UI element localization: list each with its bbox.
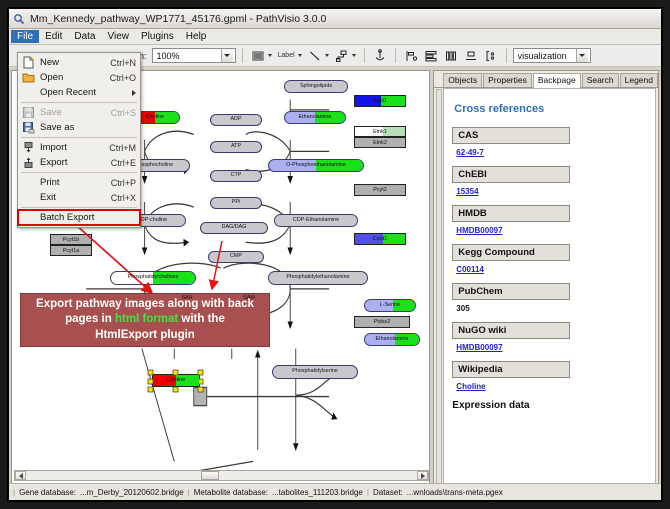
node-label: Choline: [167, 378, 185, 383]
menu-edit[interactable]: Edit: [39, 30, 68, 43]
anchor-icon: [373, 49, 387, 63]
new-document-icon: [22, 56, 36, 69]
toolbar-divider: [242, 48, 243, 63]
tab-properties[interactable]: Properties: [483, 73, 532, 87]
gene-etnk1[interactable]: Etnk1: [354, 126, 406, 137]
zoom-combobox[interactable]: 100%: [152, 48, 236, 63]
order-icon: [444, 49, 458, 63]
stack-icon: [464, 49, 478, 63]
callout-line3: HtmlExport plugin: [95, 329, 195, 341]
node-label: CTP: [231, 173, 242, 178]
gene-database-value: ...m_Derby_20120602.bridge: [80, 488, 184, 497]
gene-label: Ptdss2: [374, 319, 390, 325]
chevron-down-icon[interactable]: [576, 49, 588, 62]
menu-separator: [21, 137, 137, 138]
align-icon: [404, 49, 418, 63]
xref-chebi: ChEBI 15354: [452, 166, 647, 196]
tab-legend[interactable]: Legend: [620, 73, 658, 87]
metabolite-database-label: Metabolite database:: [194, 488, 268, 497]
gene-sgpl1[interactable]: Sgpl1: [354, 95, 406, 107]
gene-label: Etnk1: [373, 129, 387, 135]
node-label: Phosphatidylethanolamine: [286, 275, 349, 280]
expression-data-title: Expression data: [452, 400, 647, 411]
xref-source-label: Kegg Compound: [452, 244, 570, 261]
tab-objects[interactable]: Objects: [443, 73, 482, 87]
gene-pcyt1b[interactable]: Pcyt1b: [50, 234, 92, 245]
node-ethanolamine-top[interactable]: Ethanolamine: [284, 111, 346, 124]
node-label: L-Serine: [380, 303, 400, 308]
node-l-serine[interactable]: L-Serine: [364, 299, 416, 312]
chevron-right-icon: [132, 90, 136, 96]
xref-hmdb: HMDB HMDB00097: [452, 205, 647, 235]
menu-separator: [21, 207, 137, 208]
gene-ptdss2[interactable]: Ptdss2: [354, 316, 410, 328]
menu-data[interactable]: Data: [68, 30, 101, 43]
menu-separator: [21, 102, 137, 103]
side-panel: Objects Properties Backpage Search Legen…: [433, 70, 659, 500]
pathvisio-app-icon: [13, 13, 25, 25]
node-atp[interactable]: ATP: [210, 141, 262, 153]
shape-tool-button[interactable]: [249, 47, 274, 65]
menu-item-accel: Ctrl+E: [111, 158, 136, 168]
xref-source-label: PubChem: [452, 283, 570, 300]
xref-value[interactable]: Choline: [456, 382, 647, 391]
menu-item-accel: Ctrl+N: [110, 58, 136, 68]
statusbar: | Gene database: ...m_Derby_20120602.bri…: [9, 483, 661, 500]
menu-item-open[interactable]: Open Ctrl+O: [18, 70, 140, 85]
line-icon: [308, 49, 322, 63]
xref-source-label: CAS: [452, 127, 570, 144]
xref-source-label: NuGO wiki: [452, 322, 570, 339]
callout-line2-pre: pages in: [65, 313, 115, 325]
status-divider: |: [188, 488, 190, 497]
menu-item-new[interactable]: New Ctrl+N: [18, 55, 140, 70]
menu-item-label: Print: [40, 177, 111, 188]
metabolite-database-value: ...tabolites_111203.bridge: [272, 488, 363, 497]
node-label: CMP: [230, 254, 242, 259]
node-phosphatidylserine[interactable]: Phosphatidylserine: [272, 365, 358, 379]
node-label: DAG/DAG: [222, 225, 247, 230]
menu-item-label: Export: [40, 157, 111, 168]
status-divider: |: [13, 488, 15, 497]
save-disk-icon: [22, 106, 36, 119]
window-title-text: Mm_Kennedy_pathway_WP1771_45176.gpml - P…: [30, 13, 326, 25]
menu-item-label: Import: [40, 142, 109, 153]
receptor-icon: [335, 49, 349, 63]
xref-value[interactable]: 62-49-7: [456, 148, 647, 157]
side-panel-tabs[interactable]: Objects Properties Backpage Search Legen…: [434, 71, 658, 88]
node-label: Choline: [146, 115, 164, 120]
node-phosphatidylcholines[interactable]: Phosphatidylcholines: [110, 271, 196, 285]
menu-item-batch-export[interactable]: Batch Export: [18, 210, 140, 225]
menu-item-label: New: [40, 57, 110, 68]
node-label: Phosphatidylserine: [292, 369, 338, 374]
node-adp[interactable]: ADP: [210, 114, 262, 126]
menu-view[interactable]: View: [101, 30, 135, 43]
xref-cas: CAS 62-49-7: [452, 127, 647, 157]
label-tool-button[interactable]: Label: [276, 47, 304, 65]
node-label: CDP-choline: [137, 218, 167, 223]
group-icon: [424, 49, 438, 63]
visualization-value: visualization: [518, 51, 576, 61]
dataset-value: ...wnloads\trans-meta.pgex: [407, 488, 503, 497]
stack-tool-button[interactable]: [462, 47, 480, 65]
node-sphingolipids[interactable]: Sphingolipids: [284, 80, 348, 93]
menu-item-open-recent[interactable]: Open Recent: [18, 85, 140, 100]
node-ppi[interactable]: PPi: [210, 197, 262, 209]
chevron-down-icon[interactable]: [298, 54, 302, 57]
menu-help[interactable]: Help: [180, 30, 213, 43]
node-dag[interactable]: DAG/DAG: [200, 222, 268, 234]
anchor-tool-button[interactable]: [371, 47, 389, 65]
menu-item-accel: Ctrl+X: [111, 193, 136, 203]
node-label: Ethanolamine: [376, 337, 409, 342]
menu-item-exit[interactable]: Exit Ctrl+X: [18, 190, 140, 205]
menu-item-accel: Ctrl+O: [110, 73, 136, 83]
gene-label: Etnk2: [373, 140, 387, 146]
file-menu-popup[interactable]: New Ctrl+N Open Ctrl+O Open Recent Save …: [17, 52, 141, 228]
xref-source-label: ChEBI: [452, 166, 570, 183]
menu-item-import[interactable]: Import Ctrl+M: [18, 140, 140, 155]
gene-label: Pcyt1b: [63, 237, 79, 243]
callout-line1: Export pathway images along with back: [36, 298, 254, 310]
gene-database-label: Gene database:: [19, 488, 76, 497]
annotation-callout: Export pathway images along with back pa…: [20, 293, 270, 347]
scroll-left-button[interactable]: [15, 471, 26, 480]
node-ctp[interactable]: CTP: [210, 170, 262, 182]
backpage-content: Cross references CAS 62-49-7 ChEBI 15354…: [443, 88, 656, 497]
xref-pubchem: PubChem 305: [452, 283, 647, 313]
chevron-down-icon[interactable]: [221, 49, 233, 62]
xref-value[interactable]: 15354: [456, 187, 647, 196]
tab-backpage[interactable]: Backpage: [533, 73, 581, 88]
gene-etnk2[interactable]: Etnk2: [354, 137, 406, 148]
toolbar-divider: [395, 48, 396, 63]
toolbar-divider: [506, 48, 507, 63]
node-label: ADP: [230, 117, 241, 122]
xref-value: 305: [456, 304, 647, 313]
gene-cept1[interactable]: Cept1: [354, 233, 406, 245]
toolbar-divider: [364, 48, 365, 63]
node-label: CDP-Ethanolamine: [293, 218, 339, 223]
node-choline-bottom[interactable]: Choline: [152, 374, 200, 387]
chevron-down-icon[interactable]: [352, 54, 356, 57]
node-label: SAH: [181, 296, 192, 301]
menu-item-export[interactable]: Export Ctrl+E: [18, 155, 140, 170]
menu-separator: [21, 172, 137, 173]
gene-label: Pcyt2: [373, 187, 386, 193]
node-o-phosphoethanolamine[interactable]: O-Phosphoethanolamine: [268, 159, 364, 172]
xref-wikipedia: Wikipedia Choline: [452, 361, 647, 391]
menu-file[interactable]: File: [11, 30, 39, 43]
shape-icon: [251, 49, 265, 63]
callout-line2-highlight: html format: [115, 313, 178, 325]
node-ethanolamine-low[interactable]: Ethanolamine: [364, 333, 420, 346]
menu-item-label: Save: [40, 107, 111, 118]
zoom-value: 100%: [157, 51, 221, 61]
node-label: Phosphatidylcholines: [128, 275, 179, 280]
menu-plugins[interactable]: Plugins: [135, 30, 180, 43]
cross-references-title: Cross references: [454, 103, 647, 115]
order-tool-button[interactable]: [442, 47, 460, 65]
gene-pcyt2[interactable]: Pcyt2: [354, 184, 406, 196]
node-cdp-ethanolamine[interactable]: CDP-Ethanolamine: [274, 214, 358, 227]
group-tool-button[interactable]: [422, 47, 440, 65]
node-label: O-Phosphoethanolamine: [286, 163, 346, 168]
blank-icon: [22, 191, 36, 204]
pathvisio-window: Mm_Kennedy_pathway_WP1771_45176.gpml - P…: [8, 8, 662, 501]
gene-label: Sgpl1: [373, 98, 387, 104]
window-titlebar: Mm_Kennedy_pathway_WP1771_45176.gpml - P…: [9, 9, 661, 29]
canvas-hscrollbar[interactable]: [14, 470, 429, 481]
xref-nugo-wiki: NuGO wiki HMDB00097: [452, 322, 647, 352]
menu-item-accel: Ctrl+S: [111, 108, 136, 118]
node-label: Ethanolamine: [299, 115, 332, 120]
gene-pcyt1a[interactable]: Pcyt1a: [50, 245, 92, 256]
menubar[interactable]: File Edit Data View Plugins Help: [9, 29, 661, 45]
menu-item-save: Save Ctrl+S: [18, 105, 140, 120]
visualization-combobox[interactable]: visualization: [513, 48, 591, 63]
line-tool-button[interactable]: [306, 47, 331, 65]
label-tool-text: Label: [278, 52, 295, 59]
chevron-down-icon[interactable]: [325, 54, 329, 57]
menu-item-save-as[interactable]: Save as: [18, 120, 140, 135]
blank-icon: [22, 86, 36, 99]
status-divider: |: [367, 488, 369, 497]
bracket-icon: [484, 49, 498, 63]
menu-item-label: Exit: [40, 192, 111, 203]
gene-label: Pcyt1a: [63, 248, 79, 254]
chevron-down-icon[interactable]: [268, 54, 272, 57]
node-label: Sphingolipids: [300, 84, 332, 89]
node-label: ATP: [231, 144, 241, 149]
menu-item-label: Batch Export: [40, 212, 136, 223]
dataset-label: Dataset:: [373, 488, 403, 497]
open-folder-icon: [22, 71, 36, 84]
import-icon: [22, 141, 36, 154]
align-tool-button[interactable]: [402, 47, 420, 65]
export-icon: [22, 156, 36, 169]
node-phosphatidylethanolamine[interactable]: Phosphatidylethanolamine: [268, 271, 368, 285]
save-as-icon: [22, 121, 36, 134]
menu-item-print[interactable]: Print Ctrl+P: [18, 175, 140, 190]
side-panel-scrollbar[interactable]: [436, 89, 442, 497]
xref-value[interactable]: HMDB00097: [456, 226, 647, 235]
blank-icon: [22, 211, 36, 224]
xref-value[interactable]: C00114: [456, 265, 647, 274]
node-label: SAM: [243, 296, 255, 301]
bracket-tool-button[interactable]: [482, 47, 500, 65]
gene-label: Cept1: [373, 236, 387, 242]
tab-search[interactable]: Search: [582, 73, 619, 87]
xref-source-label: Wikipedia: [452, 361, 570, 378]
xref-kegg-compound: Kegg Compound C00114: [452, 244, 647, 274]
menu-item-label: Open Recent: [40, 87, 132, 98]
receptor-tool-button[interactable]: [333, 47, 358, 65]
menu-item-accel: Ctrl+M: [109, 143, 136, 153]
scroll-right-button[interactable]: [417, 471, 428, 480]
node-label: PPi: [232, 200, 240, 205]
menu-item-label: Save as: [40, 122, 136, 133]
node-cmp[interactable]: CMP: [208, 251, 264, 263]
blank-icon: [22, 176, 36, 189]
menu-item-accel: Ctrl+P: [111, 178, 136, 188]
callout-line2-post: with the: [178, 313, 225, 325]
menu-item-label: Open: [40, 72, 110, 83]
xref-source-label: HMDB: [452, 205, 570, 222]
xref-value[interactable]: HMDB00097: [456, 343, 647, 352]
scroll-thumb[interactable]: [201, 471, 219, 480]
